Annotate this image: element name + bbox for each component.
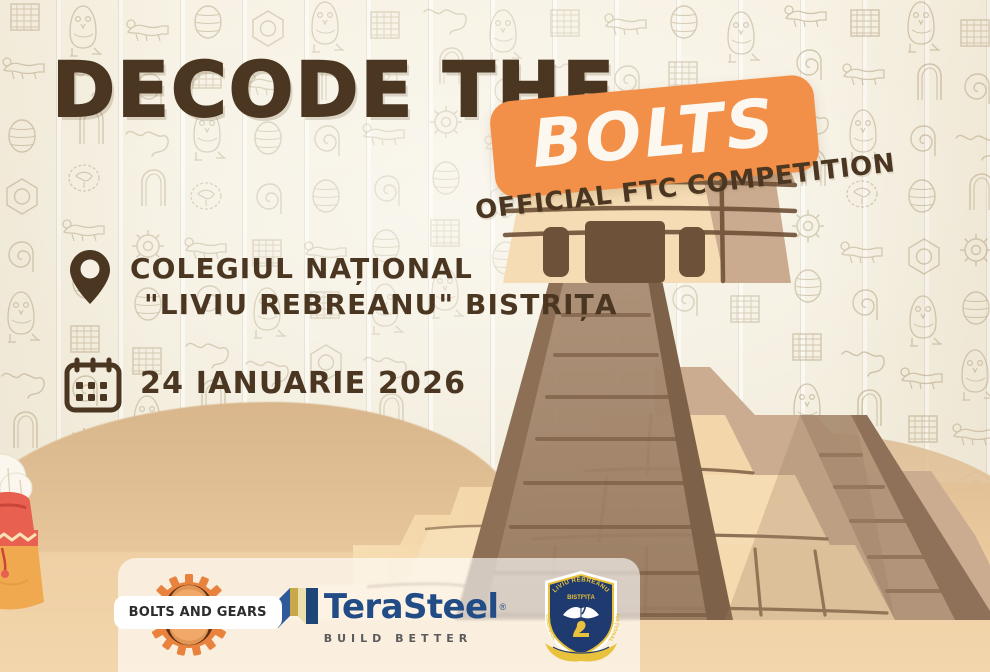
- venue-text-block: COLEGIUL NAȚIONAL "LIVIU REBREANU" BISTR…: [130, 251, 618, 323]
- date-value: 24 IANUARIE 2026: [140, 366, 466, 401]
- calendar-icon: [62, 352, 124, 414]
- sponsor-bolts-and-gears[interactable]: BOLTS AND GEARS: [135, 569, 243, 661]
- venue-line-1: COLEGIUL NAȚIONAL: [130, 251, 618, 287]
- date-info: 24 IANUARIE 2026: [62, 352, 466, 414]
- shield-crest-icon: LIVIU REBREANU COLEGIUL NAȚIONAL BISTRIȚ…: [539, 567, 623, 663]
- sponsor-school-crest[interactable]: LIVIU REBREANU COLEGIUL NAȚIONAL BISTRIȚ…: [539, 567, 623, 663]
- aztec-figure-ornament: [0, 452, 102, 612]
- terasteel-wordmark: TeraSteel: [324, 590, 499, 624]
- layered-panels-icon: [276, 586, 320, 628]
- terasteel-tagline: BUILD BETTER: [324, 632, 473, 645]
- venue-info: COLEGIUL NAȚIONAL "LIVIU REBREANU" BISTR…: [68, 248, 618, 323]
- registered-mark: ®: [499, 602, 506, 612]
- crest-city-text: BISTRIȚA: [568, 595, 596, 601]
- location-pin-icon: [68, 248, 112, 306]
- sponsor-terasteel[interactable]: TeraSteel ® BUILD BETTER: [276, 586, 506, 645]
- bolts-and-gears-label: BOLTS AND GEARS: [117, 599, 279, 626]
- sponsor-logo-bar: BOLTS AND GEARS TeraSteel ® BUILD BET: [118, 558, 640, 672]
- poster-canvas: DECODE THE BOLTS OFFICIAL FTC COMPETITIO…: [0, 0, 990, 672]
- venue-line-2: "LIVIU REBREANU" BISTRIȚA: [144, 287, 618, 323]
